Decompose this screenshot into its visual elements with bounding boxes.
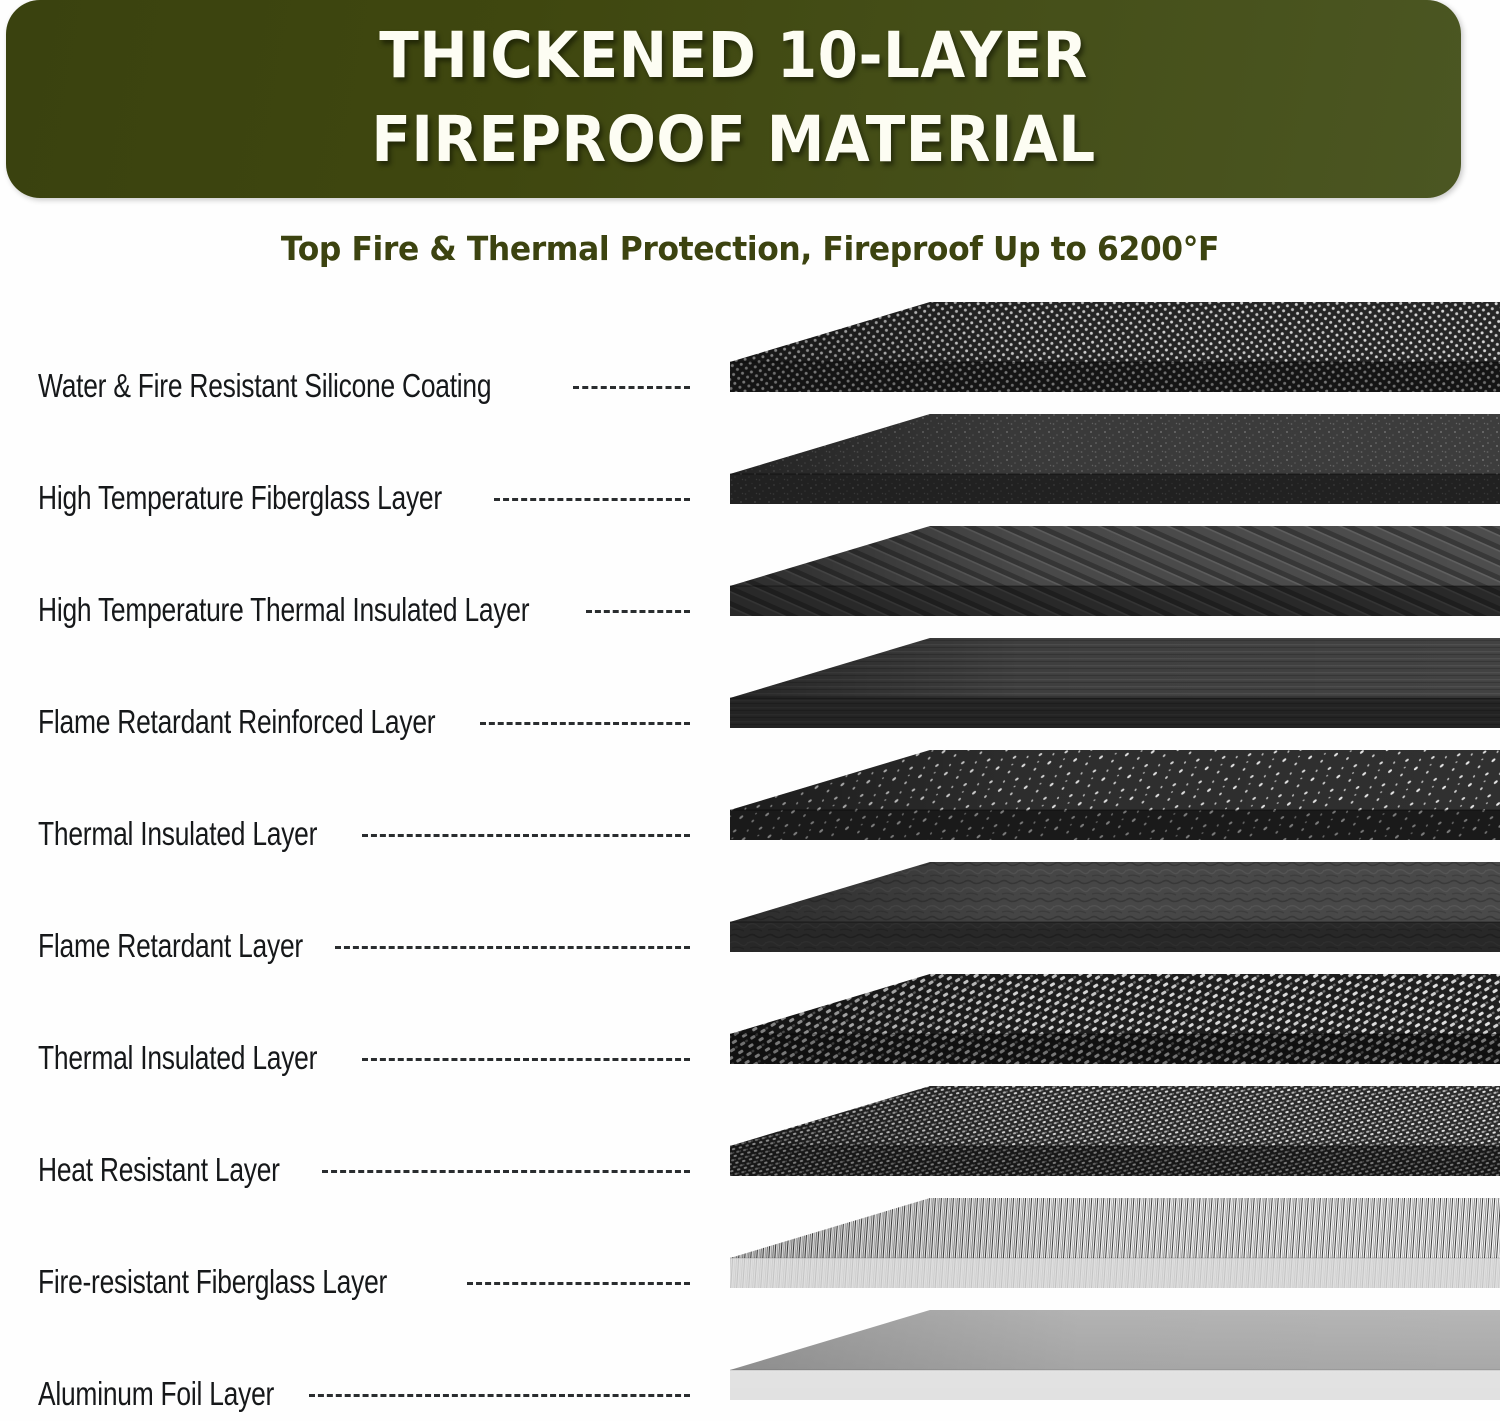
layer-label-1: Water & Fire Resistant Silicone Coating bbox=[38, 368, 486, 404]
layer-row: Thermal Insulated Layer bbox=[0, 972, 1500, 1084]
layer-row: Flame Retardant Layer bbox=[0, 860, 1500, 972]
layer-slab-7 bbox=[730, 972, 1500, 1072]
leader-line-10 bbox=[309, 1394, 690, 1397]
layer-slab-2 bbox=[730, 412, 1500, 512]
layer-row: Aluminum Foil Layer bbox=[0, 1308, 1500, 1420]
leader-line-6 bbox=[335, 946, 690, 949]
layer-label-9: Fire-resistant Fiberglass Layer bbox=[38, 1264, 486, 1300]
layer-row: Water & Fire Resistant Silicone Coating bbox=[0, 300, 1500, 412]
leader-line-5 bbox=[362, 834, 690, 837]
layer-slab-9 bbox=[730, 1196, 1500, 1296]
layer-slab-8 bbox=[730, 1084, 1500, 1184]
leader-line-1 bbox=[573, 386, 690, 389]
leader-line-2 bbox=[494, 498, 690, 501]
layer-row: High Temperature Thermal Insulated Layer bbox=[0, 524, 1500, 636]
layer-row: Heat Resistant Layer bbox=[0, 1084, 1500, 1196]
layer-slab-5 bbox=[730, 748, 1500, 848]
leader-line-7 bbox=[362, 1058, 690, 1061]
layer-label-3: High Temperature Thermal Insulated Layer bbox=[38, 592, 486, 628]
layer-row: Thermal Insulated Layer bbox=[0, 748, 1500, 860]
layer-diagram: Water & Fire Resistant Silicone CoatingH… bbox=[0, 300, 1500, 1421]
layer-slab-1 bbox=[730, 300, 1500, 400]
leader-line-3 bbox=[586, 610, 690, 613]
leader-line-8 bbox=[322, 1170, 690, 1173]
layer-label-4: Flame Retardant Reinforced Layer bbox=[38, 704, 486, 740]
layer-row: High Temperature Fiberglass Layer bbox=[0, 412, 1500, 524]
layer-slab-4 bbox=[730, 636, 1500, 736]
header-banner: THICKENED 10-LAYER FIREPROOF MATERIAL bbox=[6, 0, 1461, 198]
leader-line-4 bbox=[480, 722, 690, 725]
layer-slab-3 bbox=[730, 524, 1500, 624]
page-title: THICKENED 10-LAYER FIREPROOF MATERIAL bbox=[64, 14, 1403, 182]
layer-slab-10 bbox=[730, 1308, 1500, 1408]
layer-row: Flame Retardant Reinforced Layer bbox=[0, 636, 1500, 748]
layer-row: Fire-resistant Fiberglass Layer bbox=[0, 1196, 1500, 1308]
layer-slab-6 bbox=[730, 860, 1500, 960]
subtitle-text: Top Fire & Thermal Protection, Fireproof… bbox=[38, 228, 1463, 270]
layer-label-2: High Temperature Fiberglass Layer bbox=[38, 480, 486, 516]
leader-line-9 bbox=[467, 1282, 690, 1285]
